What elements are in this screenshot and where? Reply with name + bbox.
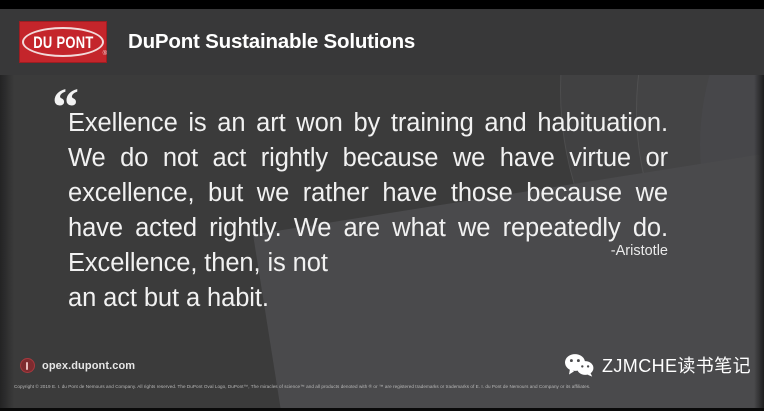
- slide-header: DU PONT ® DuPont Sustainable Solutions: [0, 9, 764, 75]
- wechat-watermark: ZJMCHE读书笔记: [564, 352, 751, 378]
- letterbox-top-bar: [0, 0, 764, 9]
- logo-registered-mark: ®: [103, 51, 107, 57]
- logo-text: DU PONT: [33, 33, 93, 51]
- presentation-slide: DU PONT ® DuPont Sustainable Solutions “…: [0, 0, 764, 411]
- footer-url-group[interactable]: opex.dupont.com: [20, 358, 135, 373]
- wechat-watermark-label: ZJMCHE读书笔记: [602, 352, 751, 378]
- quote-body: Exellence is an art won by training and …: [68, 106, 668, 316]
- dupont-oval-logo-icon: DU PONT ®: [19, 21, 107, 63]
- footer-url-label[interactable]: opex.dupont.com: [42, 360, 135, 372]
- quote-last-line: an act but a habit.: [68, 281, 668, 316]
- wechat-icon: [564, 353, 594, 377]
- copyright-notice: Copyright © 2019 E. I. du Pont de Nemour…: [14, 383, 744, 390]
- logo-oval-shape: DU PONT ®: [22, 27, 104, 57]
- page-title: DuPont Sustainable Solutions: [128, 30, 415, 54]
- quote-attribution: -Aristotle: [0, 243, 668, 259]
- dupont-dot-icon: [20, 358, 35, 373]
